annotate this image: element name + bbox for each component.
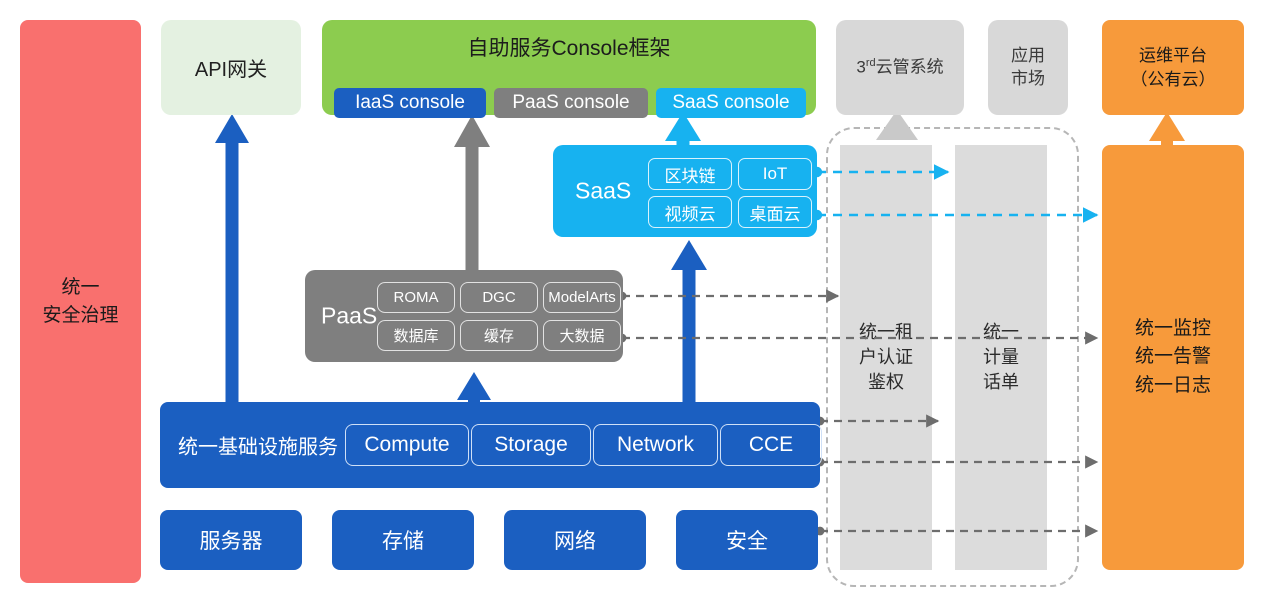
self-service-console-framework: 自助服务Console框架 IaaS console PaaS console … xyxy=(322,20,816,115)
unified-infrastructure-services-bar: 统一基础设施服务 Compute Storage Network CCE xyxy=(160,402,820,488)
infra-item-storage[interactable]: Storage xyxy=(471,424,591,466)
saas-item-blockchain[interactable]: 区块链 xyxy=(648,158,732,190)
api-gateway-box: API网关 xyxy=(161,20,301,115)
ops-platform-monitoring-panel: 统一监控 统一告警 统一日志 xyxy=(1102,145,1244,570)
shared-service-column-auth: 统一租 户认证 鉴权 xyxy=(840,145,932,570)
saas-block: SaaS 区块链 IoT 视频云 桌面云 xyxy=(553,145,817,237)
resource-box-storage[interactable]: 存储 xyxy=(332,510,474,570)
arrow-infra-to-saas xyxy=(671,240,707,405)
arrow-infra-to-api-gateway xyxy=(215,114,249,402)
third-party-label: 3rd云管系统 xyxy=(856,56,943,80)
resource-box-server[interactable]: 服务器 xyxy=(160,510,302,570)
saas-item-video-cloud[interactable]: 视频云 xyxy=(648,196,732,228)
paas-item-modelarts[interactable]: ModelArts xyxy=(543,282,621,313)
infra-item-cce[interactable]: CCE xyxy=(720,424,822,466)
shared-service-column-metering: 统一 计量 话单 xyxy=(955,145,1047,570)
architecture-diagram: 统一租 户认证 鉴权 统一 计量 话单 xyxy=(0,0,1265,605)
resource-box-security[interactable]: 安全 xyxy=(676,510,818,570)
paas-block: PaaS ROMA DGC ModelArts 数据库 缓存 大数据 xyxy=(305,270,623,362)
paas-item-roma[interactable]: ROMA xyxy=(377,282,455,313)
iaas-console-chip[interactable]: IaaS console xyxy=(334,88,486,118)
console-framework-title: 自助服务Console框架 xyxy=(322,32,816,62)
paas-console-chip[interactable]: PaaS console xyxy=(494,88,648,118)
paas-item-cache[interactable]: 缓存 xyxy=(460,320,538,351)
saas-item-iot[interactable]: IoT xyxy=(738,158,812,190)
app-market-box: 应用 市场 xyxy=(988,20,1068,115)
arrow-into-ops-platform xyxy=(1149,112,1185,145)
saas-label: SaaS xyxy=(575,178,631,205)
infrastructure-label: 统一基础设施服务 xyxy=(178,431,338,460)
saas-console-chip[interactable]: SaaS console xyxy=(656,88,806,118)
paas-item-database[interactable]: 数据库 xyxy=(377,320,455,351)
arrow-infra-to-paas xyxy=(457,372,491,405)
paas-item-bigdata[interactable]: 大数据 xyxy=(543,320,621,351)
paas-item-dgc[interactable]: DGC xyxy=(460,282,538,313)
ops-platform-public-cloud-box: 运维平台 （公有云） xyxy=(1102,20,1244,115)
infra-item-network[interactable]: Network xyxy=(593,424,718,466)
arrow-paas-to-console xyxy=(454,115,490,270)
third-party-cloud-management-box: 3rd云管系统 xyxy=(836,20,964,115)
infra-item-compute[interactable]: Compute xyxy=(345,424,469,466)
paas-label: PaaS xyxy=(321,303,377,330)
resource-box-network[interactable]: 网络 xyxy=(504,510,646,570)
saas-item-desktop-cloud[interactable]: 桌面云 xyxy=(738,196,812,228)
unified-security-governance-panel: 统一 安全治理 xyxy=(20,20,141,583)
